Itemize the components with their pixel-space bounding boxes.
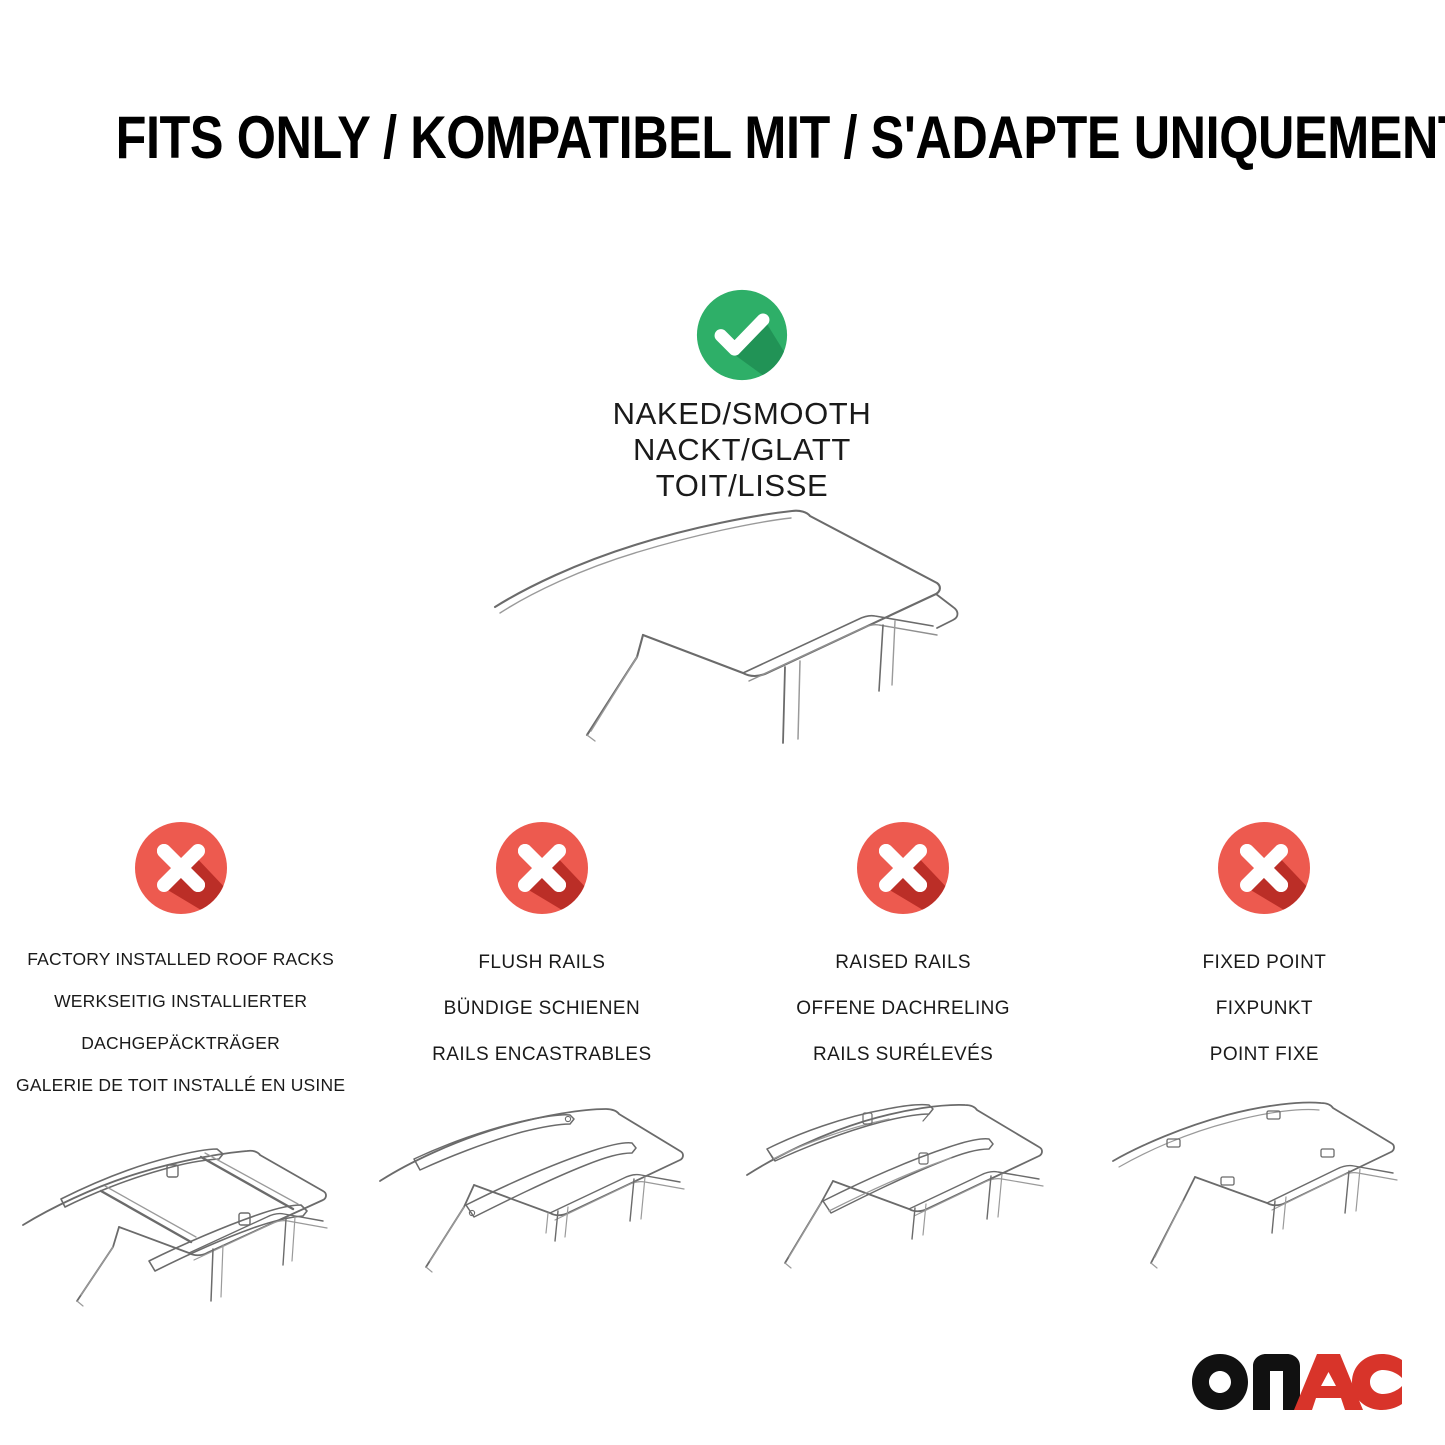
compatible-label: NAKED/SMOOTH NACKT/GLATT TOIT/LISSE — [472, 396, 1012, 504]
incompatible-label-raised-rails: RAISED RAILS OFFENE DACHRELING RAILS SUR… — [796, 928, 1010, 1089]
label-line-3: RAILS ENCASTRABLES — [432, 1043, 651, 1066]
label-line-3: DACHGEPÄCKTRÄGER — [16, 1033, 345, 1054]
car-roof-raised-rails-illustration — [723, 1101, 1083, 1316]
label-line-2: BÜNDIGE SCHIENEN — [432, 997, 651, 1020]
compatible-label-line-1: NAKED/SMOOTH — [472, 396, 1012, 432]
car-roof-naked-smooth-illustration — [467, 495, 1007, 745]
incompatible-item-fixed-point: FIXED POINT FIXPUNKT POINT FIXE — [1084, 818, 1445, 1316]
omac-wordmark-icon — [1191, 1352, 1403, 1412]
incompatible-item-raised-rails: RAISED RAILS OFFENE DACHRELING RAILS SUR… — [723, 818, 1084, 1316]
label-line-2: WERKSEITIG INSTALLIERTER — [16, 991, 345, 1012]
car-roof-factory-racks-illustration — [1, 1129, 361, 1344]
omac-logo: OMAC — [1191, 1351, 1403, 1413]
green-check-icon-wrap — [472, 286, 1012, 384]
red-x-circle-icon — [1214, 818, 1314, 918]
green-check-circle-icon — [693, 286, 791, 384]
label-line-1: FIXED POINT — [1203, 951, 1327, 974]
label-line-3: POINT FIXE — [1203, 1043, 1327, 1066]
label-line-4: GALERIE DE TOIT INSTALLÉ EN USINE — [16, 1075, 345, 1096]
compatible-roof-type-block: NAKED/SMOOTH NACKT/GLATT TOIT/LISSE — [472, 286, 1012, 504]
car-roof-flush-rails-illustration — [362, 1101, 722, 1316]
red-x-circle-icon — [131, 818, 231, 918]
label-line-3: RAILS SURÉLEVÉS — [796, 1043, 1010, 1066]
red-x-circle-icon — [492, 818, 592, 918]
incompatible-item-factory-installed-roof-racks: FACTORY INSTALLED ROOF RACKS WERKSEITIG … — [0, 818, 361, 1344]
label-line-1: RAISED RAILS — [796, 951, 1010, 974]
incompatible-label-fixed-point: FIXED POINT FIXPUNKT POINT FIXE — [1203, 928, 1327, 1089]
red-x-circle-icon — [853, 818, 953, 918]
fitment-infographic: FITS ONLY / KOMPATIBEL MIT / S'ADAPTE UN… — [0, 0, 1445, 1445]
incompatible-item-flush-rails: FLUSH RAILS BÜNDIGE SCHIENEN RAILS ENCAS… — [361, 818, 722, 1316]
incompatible-label-flush-rails: FLUSH RAILS BÜNDIGE SCHIENEN RAILS ENCAS… — [432, 928, 651, 1089]
label-line-1: FLUSH RAILS — [432, 951, 651, 974]
label-line-2: OFFENE DACHRELING — [796, 997, 1010, 1020]
incompatible-label-factory-installed-roof-racks: FACTORY INSTALLED ROOF RACKS WERKSEITIG … — [16, 928, 345, 1117]
page-title: FITS ONLY / KOMPATIBEL MIT / S'ADAPTE UN… — [116, 103, 1330, 172]
incompatible-roof-types-row: FACTORY INSTALLED ROOF RACKS WERKSEITIG … — [0, 818, 1445, 1344]
car-roof-fixed-point-illustration — [1099, 1101, 1429, 1316]
label-line-2: FIXPUNKT — [1203, 997, 1327, 1020]
label-line-1: FACTORY INSTALLED ROOF RACKS — [16, 949, 345, 970]
compatible-label-line-2: NACKT/GLATT — [472, 432, 1012, 468]
